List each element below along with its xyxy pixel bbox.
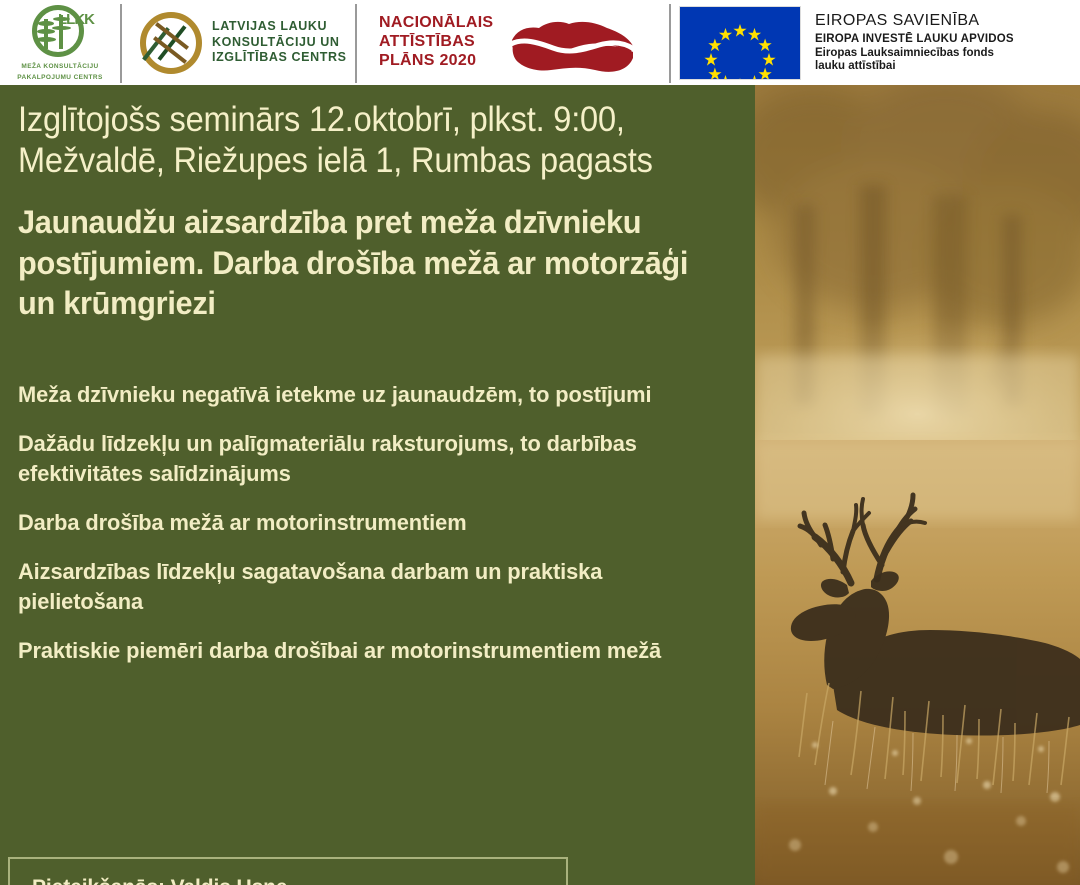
llkc-text-line2: KONSULTĀCIJU UN [212,35,347,51]
eu-text-line3: Eiropas Lauksaimniecības fonds [815,47,1014,60]
logo-nap2020: NACIONĀLAIS ATTĪSTĪBAS PLĀNS 2020 [357,0,669,85]
nap-text: NACIONĀLAIS ATTĪSTĪBAS PLĀNS 2020 [379,14,493,71]
mkpc-emblem-icon: LLKK [28,5,92,61]
latvia-map-icon [507,12,635,74]
nap-text-line2: ATTĪSTĪBAS [379,33,493,52]
deer-forest-photo [755,85,1080,885]
nap-text-line1: NACIONĀLAIS [379,14,493,33]
eu-text-line1: EIROPAS SAVIENĪBA [815,12,1014,31]
logo-mkpc: LLKK MEŽA KONSULTĀCIJU PAKALPOJUMU CENTR… [0,0,120,85]
mkpc-caption-line1: MEŽA KONSULTĀCIJU [21,63,98,72]
eu-text-line4: lauku attīstībai [815,60,1014,73]
seminar-when-line1: Izglītojošs seminārs 12.oktobrī, plkst. … [18,99,725,140]
agenda-item: Darba drošība mežā ar motorinstrumentiem [18,508,731,538]
contact-box: Pieteikšanās: Valdis Usne Tālr. 26438175… [8,857,568,885]
agenda-item: Dažādu līdzekļu un palīgmateriālu rakstu… [18,429,731,489]
llkc-text-line3: IZGLĪTĪBAS CENTRS [212,50,347,66]
agenda-item: Meža dzīvnieku negatīvā ietekme uz jauna… [18,380,731,410]
agenda-item: Aizsardzības līdzekļu sagatavošana darba… [18,557,731,617]
contact-registration: Pieteikšanās: Valdis Usne [32,873,566,885]
seminar-when-line2: Mežvaldē, Riežupes ielā 1, Rumbas pagast… [18,140,725,181]
sponsor-logo-header: LLKK MEŽA KONSULTĀCIJU PAKALPOJUMU CENTR… [0,0,1080,85]
logo-llkc: LATVIJAS LAUKU KONSULTĀCIJU UN IZGLĪTĪBA… [122,0,355,85]
poster-content: Izglītojošs seminārs 12.oktobrī, plkst. … [0,85,760,885]
agenda-list: Meža dzīvnieku negatīvā ietekme uz jauna… [18,380,753,684]
llkc-text-line1: LATVIJAS LAUKU [212,19,347,35]
eu-flag-icon [679,6,801,80]
mkpc-caption-line2: PAKALPOJUMU CENTRS [17,74,102,83]
seminar-topic-title: Jaunaudžu aizsardzība pret meža dzīvniek… [18,202,719,324]
logo-eu: EIROPAS SAVIENĪBA EIROPA INVESTĒ LAUKU A… [671,0,1080,85]
llkc-text: LATVIJAS LAUKU KONSULTĀCIJU UN IZGLĪTĪBA… [212,19,347,66]
eu-text: EIROPAS SAVIENĪBA EIROPA INVESTĒ LAUKU A… [815,12,1014,74]
llkc-emblem-icon [140,12,202,74]
nap-text-line3: PLĀNS 2020 [379,52,493,71]
poster: LLKK MEŽA KONSULTĀCIJU PAKALPOJUMU CENTR… [0,0,1080,885]
mkpc-mark-text: LLKK [58,11,94,28]
seminar-when-title: Izglītojošs seminārs 12.oktobrī, plkst. … [18,99,725,182]
eu-text-line2: EIROPA INVESTĒ LAUKU APVIDOS [815,33,1014,46]
agenda-item: Praktiskie piemēri darba drošībai ar mot… [18,636,731,666]
